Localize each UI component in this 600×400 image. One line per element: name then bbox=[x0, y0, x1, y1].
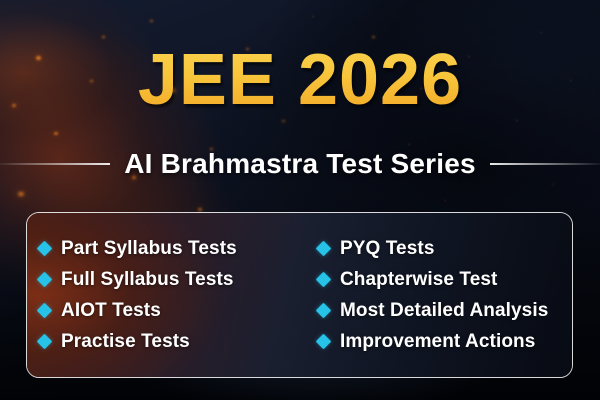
subtitle-rule-right bbox=[490, 163, 600, 165]
diamond-bullet-icon bbox=[37, 272, 53, 288]
feature-item-label: Full Syllabus Tests bbox=[61, 269, 234, 291]
ember-particle bbox=[540, 32, 542, 33]
features-box: Part Syllabus TestsFull Syllabus TestsAI… bbox=[26, 212, 573, 378]
ember-particle bbox=[372, 36, 375, 38]
diamond-bullet-icon bbox=[37, 241, 53, 257]
ember-particle bbox=[102, 36, 105, 38]
diamond-bullet-icon bbox=[316, 241, 332, 257]
diamond-bullet-icon bbox=[316, 272, 332, 288]
ember-particle bbox=[198, 208, 202, 211]
feature-item-label: AIOT Tests bbox=[61, 300, 161, 322]
feature-item-label: Chapterwise Test bbox=[340, 269, 498, 291]
feature-item: Chapterwise Test bbox=[318, 269, 572, 291]
ember-particle bbox=[150, 20, 153, 22]
feature-item-label: Practise Tests bbox=[61, 331, 190, 353]
features-column-right: PYQ TestsChapterwise TestMost Detailed A… bbox=[318, 238, 572, 353]
feature-item-label: Improvement Actions bbox=[340, 331, 535, 353]
subtitle-rule-left bbox=[0, 163, 110, 165]
diamond-bullet-icon bbox=[37, 303, 53, 319]
feature-item-label: Part Syllabus Tests bbox=[61, 238, 237, 260]
feature-item-label: Most Detailed Analysis bbox=[340, 300, 548, 322]
ember-particle bbox=[18, 192, 24, 196]
feature-item-label: PYQ Tests bbox=[340, 238, 435, 260]
banner-title: JEE 2026 bbox=[138, 44, 462, 116]
diamond-bullet-icon bbox=[316, 334, 332, 350]
ember-particle bbox=[516, 120, 518, 121]
diamond-bullet-icon bbox=[37, 334, 53, 350]
feature-item: Most Detailed Analysis bbox=[318, 300, 572, 322]
feature-item: AIOT Tests bbox=[39, 300, 318, 322]
subtitle-container: AI Brahmastra Test Series bbox=[0, 142, 600, 186]
features-columns: Part Syllabus TestsFull Syllabus TestsAI… bbox=[27, 238, 572, 353]
ember-particle bbox=[444, 200, 446, 201]
promo-banner: JEE 2026 AI Brahmastra Test Series Part … bbox=[0, 0, 600, 400]
diamond-bullet-icon bbox=[316, 303, 332, 319]
title-container: JEE 2026 bbox=[0, 44, 600, 116]
ember-particle bbox=[282, 120, 285, 122]
feature-item: Full Syllabus Tests bbox=[39, 269, 318, 291]
feature-item: PYQ Tests bbox=[318, 238, 572, 260]
features-column-left: Part Syllabus TestsFull Syllabus TestsAI… bbox=[39, 238, 318, 353]
feature-item: Improvement Actions bbox=[318, 331, 572, 353]
ember-particle bbox=[54, 132, 58, 135]
banner-subtitle: AI Brahmastra Test Series bbox=[110, 148, 490, 180]
feature-item: Practise Tests bbox=[39, 331, 318, 353]
feature-item: Part Syllabus Tests bbox=[39, 238, 318, 260]
ember-particle bbox=[312, 16, 314, 17]
